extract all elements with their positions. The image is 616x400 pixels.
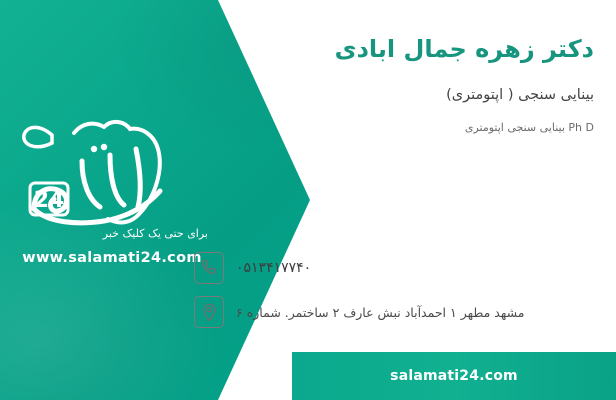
footer-site-url[interactable]: salamati24.com (390, 368, 518, 384)
logo-tagline: برای حتی یک کلیک خبر (103, 227, 208, 240)
logo-block: 24 برای حتی یک کلیک خبر www.salamati24.c… (8, 105, 214, 280)
doctor-name: دکتر زهره جمال ابادی (234, 34, 594, 65)
doctor-info: دکتر زهره جمال ابادی بینایی سنجی ( اپتوم… (234, 34, 594, 134)
footer-bar: salamati24.com (292, 352, 616, 400)
logo-url[interactable]: www.salamati24.com (14, 250, 210, 266)
doctor-degree: Ph D بینایی سنجی اپتومتری (234, 121, 594, 134)
address-row: مشهد مطهر ۱ احمدآباد نبش عارف ۲ ساختمر. … (194, 296, 594, 328)
phone-row: ۰۵۱۳۴۱۷۷۴۰ (194, 252, 594, 284)
location-pin-glyph (202, 303, 217, 322)
phone-glyph (201, 259, 217, 277)
phone-number: ۰۵۱۳۴۱۷۷۴۰ (236, 260, 311, 276)
logo-badge-number: 24 (34, 188, 65, 213)
phone-icon[interactable] (194, 252, 224, 284)
apple-logo-icon: 24 (8, 105, 214, 245)
business-card: 24 برای حتی یک کلیک خبر www.salamati24.c… (0, 0, 616, 400)
address-text: مشهد مطهر ۱ احمدآباد نبش عارف ۲ ساختمر. … (236, 305, 524, 320)
location-pin-icon[interactable] (194, 296, 224, 328)
doctor-specialty: بینایی سنجی ( اپتومتری) (234, 87, 594, 103)
